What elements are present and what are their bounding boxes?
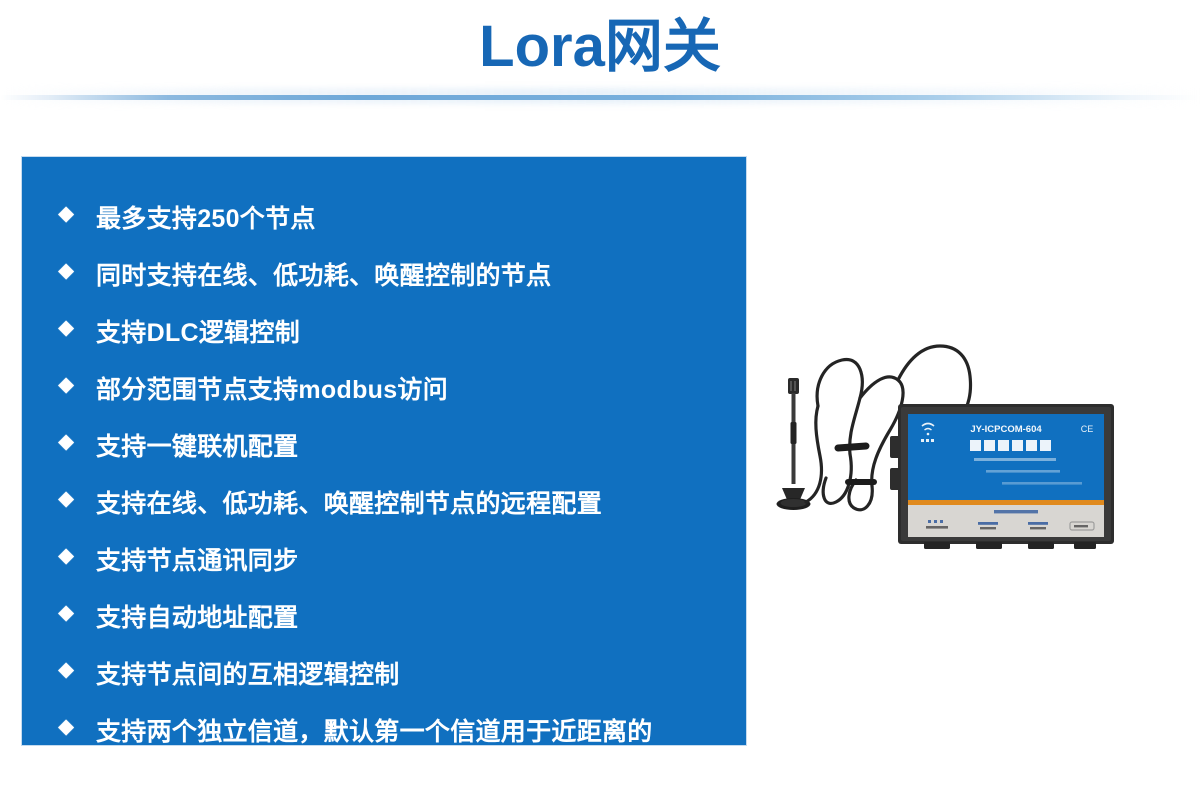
diamond-bullet-icon: ◆ xyxy=(58,713,82,741)
feature-item-label: 同时支持在线、低功耗、唤醒控制的节点 xyxy=(96,256,730,296)
device-model-text: JY-ICPCOM-604 xyxy=(970,424,1042,435)
feature-item-label: 支持节点通讯同步 xyxy=(96,541,730,581)
page-title: Lora网关 xyxy=(0,6,1200,88)
feature-item: ◆支持自动地址配置 xyxy=(58,598,730,638)
feature-item-label: 支持DLC逻辑控制 xyxy=(96,313,730,353)
feature-item: ◆支持两个独立信道，默认第一个信道用于近距离的 高速通讯，第二个用于远距离的慢速… xyxy=(58,712,730,792)
feature-item-label: 支持在线、低功耗、唤醒控制节点的远程配置 xyxy=(96,484,730,524)
feature-item: ◆支持DLC逻辑控制 xyxy=(58,313,730,353)
diamond-bullet-icon: ◆ xyxy=(58,485,82,513)
diamond-bullet-icon: ◆ xyxy=(58,656,82,684)
feature-item-label: 支持一键联机配置 xyxy=(96,427,730,467)
feature-item: ◆最多支持250个节点 xyxy=(58,199,730,239)
feature-item: ◆支持节点通讯同步 xyxy=(58,541,730,581)
diamond-bullet-icon: ◆ xyxy=(58,200,82,228)
feature-item-label: 部分范围节点支持modbus访问 xyxy=(96,370,730,410)
feature-item: ◆同时支持在线、低功耗、唤醒控制的节点 xyxy=(58,256,730,296)
ce-mark-text: CE xyxy=(1081,424,1094,434)
product-figure: JY-ICPCOM-604 CE xyxy=(762,336,1162,576)
feature-item: ◆支持节点间的互相逻辑控制 xyxy=(58,655,730,695)
feature-item: ◆支持一键联机配置 xyxy=(58,427,730,467)
diamond-bullet-icon: ◆ xyxy=(58,314,82,342)
page-header: Lora网关 xyxy=(0,0,1200,104)
feature-item-label: 支持节点间的互相逻辑控制 xyxy=(96,655,730,695)
feature-list: ◆最多支持250个节点◆同时支持在线、低功耗、唤醒控制的节点◆支持DLC逻辑控制… xyxy=(58,199,730,809)
product-photo-image: JY-ICPCOM-604 CE xyxy=(762,336,1162,576)
feature-item: ◆部分范围节点支持modbus访问 xyxy=(58,370,730,410)
feature-item-label: 支持自动地址配置 xyxy=(96,598,730,638)
feature-item-label: 最多支持250个节点 xyxy=(96,199,730,239)
diamond-bullet-icon: ◆ xyxy=(58,371,82,399)
feature-item: ◆支持在线、低功耗、唤醒控制节点的远程配置 xyxy=(58,484,730,524)
title-divider xyxy=(0,95,1200,100)
feature-item-label: 支持两个独立信道，默认第一个信道用于近距离的 高速通讯，第二个用于远距离的慢速通… xyxy=(96,712,730,792)
diamond-bullet-icon: ◆ xyxy=(58,428,82,456)
feature-panel: ◆最多支持250个节点◆同时支持在线、低功耗、唤醒控制的节点◆支持DLC逻辑控制… xyxy=(22,157,746,745)
diamond-bullet-icon: ◆ xyxy=(58,257,82,285)
gateway-device-icon: JY-ICPCOM-604 CE xyxy=(890,404,1114,549)
diamond-bullet-icon: ◆ xyxy=(58,599,82,627)
diamond-bullet-icon: ◆ xyxy=(58,542,82,570)
